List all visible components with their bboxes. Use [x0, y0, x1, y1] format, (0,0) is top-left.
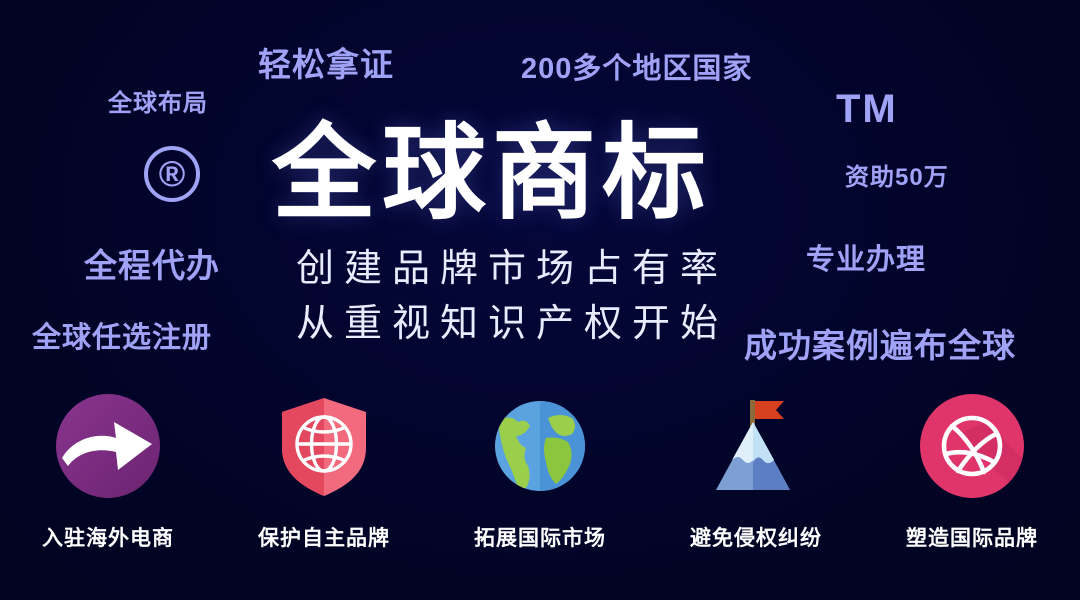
keyword-global-layout: 全球布局	[108, 92, 208, 116]
keyword-global-choice: 全球任选注册	[32, 324, 212, 353]
feature-label: 保护自主品牌	[258, 522, 390, 552]
subtitle-line-1: 创建品牌市场占有率	[296, 250, 728, 288]
feature-label: 避免侵权纠纷	[690, 522, 822, 552]
feature-item-build-brand[interactable]: 塑造国际品牌	[872, 392, 1072, 552]
keyword-full-service: 全程代办	[84, 249, 220, 282]
feature-label: 塑造国际品牌	[906, 522, 1038, 552]
keyword-easy-certificate: 轻松拿证	[258, 48, 394, 81]
keyword-subsidy: 资助50万	[845, 166, 949, 190]
keyword-professional: 专业办理	[806, 246, 926, 275]
trademark-promo-banner: 全球布局 ® 轻松拿证 200多个地区国家 TM 资助50万 全程代办 全球任选…	[0, 0, 1080, 600]
feature-item-protect-brand[interactable]: 保护自主品牌	[224, 392, 424, 552]
feature-item-overseas-ecommerce[interactable]: 入驻海外电商	[8, 392, 208, 552]
registered-mark-icon: ®	[144, 146, 200, 202]
page-title: 全球商标	[272, 122, 712, 226]
shield-globe-icon	[270, 392, 378, 500]
feature-item-avoid-infringement[interactable]: 避免侵权纠纷	[656, 392, 856, 552]
keyword-countries-count: 200多个地区国家	[521, 55, 752, 84]
curved-arrow-icon	[54, 392, 162, 500]
tm-mark-icon: TM	[836, 89, 898, 129]
dribbble-ball-icon	[918, 392, 1026, 500]
keyword-success-cases: 成功案例遍布全球	[744, 329, 1016, 362]
earth-globe-icon	[486, 392, 594, 500]
feature-label: 拓展国际市场	[474, 522, 606, 552]
feature-label: 入驻海外电商	[42, 522, 174, 552]
feature-row: 入驻海外电商 保护自主品牌	[0, 392, 1080, 572]
feature-item-expand-market[interactable]: 拓展国际市场	[440, 392, 640, 552]
mountain-flag-icon	[702, 392, 810, 500]
subtitle-line-2: 从重视知识产权开始	[296, 305, 728, 343]
